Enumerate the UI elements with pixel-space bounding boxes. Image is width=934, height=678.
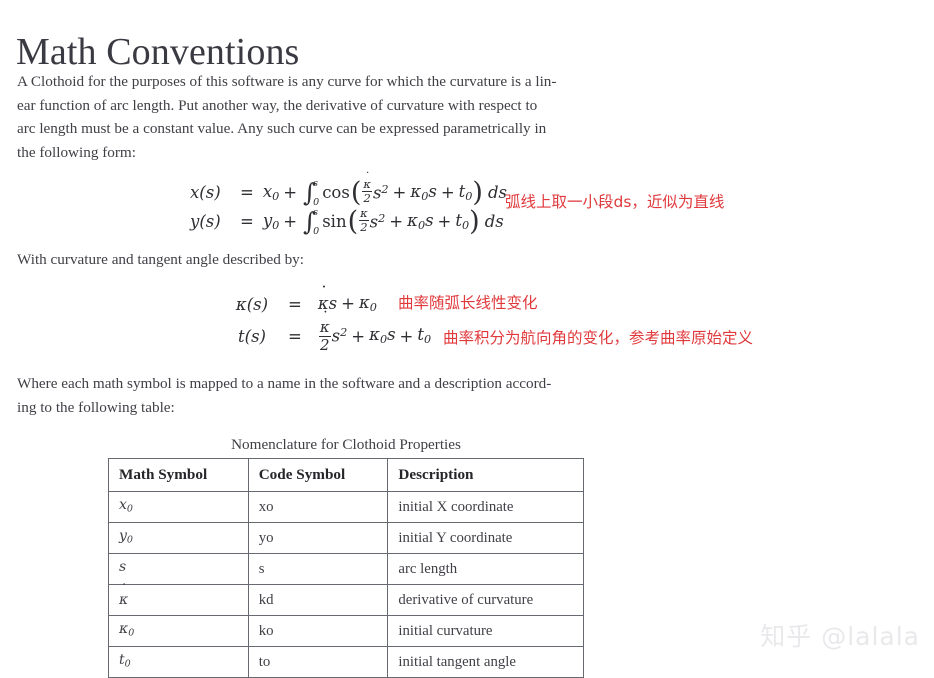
- cell-code-symbol: ko: [248, 616, 388, 647]
- cell-math-symbol: s: [109, 554, 249, 585]
- table-row: κ0 ko initial curvature: [109, 616, 584, 647]
- cell-description: initial Y coordinate: [388, 523, 584, 554]
- differential-ds: ds: [483, 183, 507, 202]
- paragraph-line: the following form:: [17, 141, 697, 165]
- plus-sign: +: [337, 294, 359, 313]
- paragraph-line: A Clothoid for the purposes of this soft…: [17, 70, 697, 94]
- integral-upper-limit: s: [313, 178, 319, 189]
- equation-lhs: t(s): [232, 327, 272, 346]
- cell-code-symbol: xo: [248, 492, 388, 523]
- cell-math-symbol: κ0: [109, 616, 249, 647]
- cell-math-symbol: x0: [109, 492, 249, 523]
- page-title: Math Conventions: [16, 29, 299, 75]
- cell-description: arc length: [388, 554, 584, 585]
- term-kappa0: κ0: [359, 293, 377, 314]
- plus-sign: +: [347, 327, 369, 346]
- cell-description: initial tangent angle: [388, 647, 584, 678]
- term-kappa0-s: κ0s: [407, 211, 433, 232]
- annotation-curvature-integral: 曲率积分为航向角的变化，参考曲率原始定义: [443, 328, 753, 348]
- cell-code-symbol: kd: [248, 585, 388, 616]
- paren-close: ): [469, 212, 480, 232]
- equation-rhs: κ 2 s2 + κ0s + t0: [318, 320, 431, 353]
- annotation-ds-segment: 弧线上取一小段ds，近似为直线: [505, 192, 724, 212]
- term-x0: x0: [263, 182, 279, 203]
- equation-block-parametric: x(s) = x0 + ∫ s 0 cos ( κ 2: [190, 178, 507, 236]
- paren-open: (: [348, 212, 359, 232]
- paragraph-table-intro: Where each math symbol is mapped to a na…: [17, 372, 697, 419]
- paren-open: (: [351, 183, 362, 203]
- plus-sign: +: [279, 183, 301, 202]
- equation-equals: =: [236, 212, 263, 231]
- fraction-kappadot-over-2: κ 2: [359, 208, 369, 234]
- term-y0: y0: [263, 211, 279, 232]
- cell-math-symbol: t0: [109, 647, 249, 678]
- equation-row-y: y(s) = y0 + ∫ s 0 sin ( κ 2: [190, 207, 507, 236]
- cell-code-symbol: yo: [248, 523, 388, 554]
- integral-sign: ∫ s 0: [303, 181, 319, 205]
- term-s: s: [329, 294, 337, 313]
- differential-ds: ds: [480, 212, 504, 231]
- term-t0: t0: [459, 182, 473, 203]
- paragraph-line: With curvature and tangent angle describ…: [17, 248, 697, 272]
- equation-rhs: x0 + ∫ s 0 cos ( κ 2 s2 + κ0s: [263, 180, 507, 206]
- integral-lower-limit: 0: [313, 226, 319, 237]
- trig-function-sin: sin: [322, 212, 347, 231]
- equation-rhs: y0 + ∫ s 0 sin ( κ 2 s2 + κ0s: [263, 209, 504, 235]
- term-t0: t0: [417, 325, 431, 346]
- fraction-kappadot-over-2: κ 2: [319, 320, 331, 353]
- equation-row-tangent: t(s) = κ 2 s2 + κ0s + t0: [232, 320, 431, 352]
- equation-lhs: κ(s): [232, 295, 272, 314]
- equation-lhs: x(s): [190, 183, 236, 202]
- table-row: x0 xo initial X coordinate: [109, 492, 584, 523]
- cell-math-symbol: y0: [109, 523, 249, 554]
- equation-equals: =: [236, 183, 263, 202]
- nomenclature-table: Math Symbol Code Symbol Description x0 x…: [108, 458, 584, 678]
- plus-sign: +: [434, 212, 456, 231]
- plus-sign: +: [437, 183, 459, 202]
- table-row: t0 to initial tangent angle: [109, 647, 584, 678]
- cell-description: initial X coordinate: [388, 492, 584, 523]
- equation-equals: =: [272, 327, 318, 346]
- paragraph-curvature-intro: With curvature and tangent angle describ…: [17, 248, 697, 272]
- paragraph-line: ing to the following table:: [17, 396, 697, 420]
- paragraph-line: Where each math symbol is mapped to a na…: [17, 372, 697, 396]
- cell-description: derivative of curvature: [388, 585, 584, 616]
- integral-upper-limit: s: [313, 207, 319, 218]
- zhihu-watermark: 知乎 @lalala: [760, 617, 920, 653]
- term-s-squared: s2: [373, 183, 389, 202]
- plus-sign: +: [396, 327, 418, 346]
- paragraph-line: ear function of arc length. Put another …: [17, 94, 697, 118]
- equation-row-x: x(s) = x0 + ∫ s 0 cos ( κ 2: [190, 178, 507, 207]
- term-t0: t0: [455, 211, 469, 232]
- term-kappa0-s: κ0s: [369, 325, 395, 346]
- plus-sign: +: [279, 212, 301, 231]
- column-header-description: Description: [388, 459, 584, 492]
- paragraph-intro: A Clothoid for the purposes of this soft…: [17, 70, 697, 164]
- table-row: s s arc length: [109, 554, 584, 585]
- column-header-math-symbol: Math Symbol: [109, 459, 249, 492]
- annotation-curvature-linear: 曲率随弧长线性变化: [398, 293, 538, 313]
- table-row: y0 yo initial Y coordinate: [109, 523, 584, 554]
- plus-sign: +: [385, 212, 407, 231]
- equation-equals: =: [272, 295, 318, 314]
- term-s-squared: s2: [332, 326, 348, 345]
- table-row: κ kd derivative of curvature: [109, 585, 584, 616]
- paragraph-line: arc length must be a constant value. Any…: [17, 117, 697, 141]
- table-caption: Nomenclature for Clothoid Properties: [108, 436, 584, 454]
- table-header-row: Math Symbol Code Symbol Description: [109, 459, 584, 492]
- integral-sign: ∫ s 0: [303, 210, 319, 234]
- paren-close: ): [472, 183, 483, 203]
- trig-function-cos: cos: [322, 183, 351, 202]
- cell-description: initial curvature: [388, 616, 584, 647]
- term-s-squared: s2: [370, 212, 386, 231]
- cell-math-symbol: κ: [109, 585, 249, 616]
- document-page: Math Conventions A Clothoid for the purp…: [0, 0, 934, 675]
- cell-code-symbol: to: [248, 647, 388, 678]
- term-kappa0-s: κ0s: [410, 182, 436, 203]
- column-header-code-symbol: Code Symbol: [248, 459, 388, 492]
- equation-lhs: y(s): [190, 212, 236, 231]
- plus-sign: +: [389, 183, 411, 202]
- cell-code-symbol: s: [248, 554, 388, 585]
